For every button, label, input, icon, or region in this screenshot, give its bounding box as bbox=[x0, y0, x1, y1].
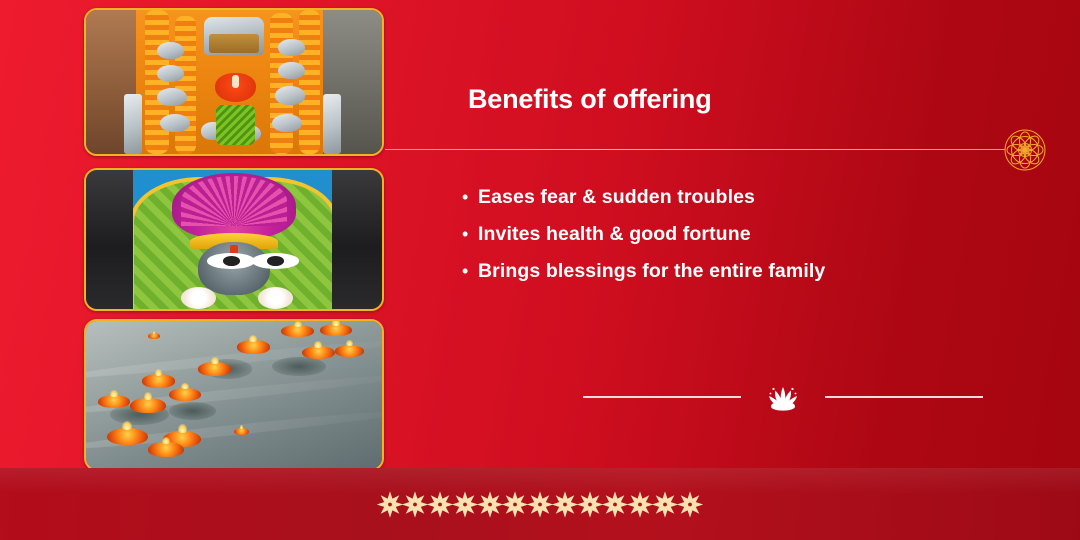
lotus-icon bbox=[761, 381, 805, 413]
slide-canvas: Benefits of offering bbox=[0, 0, 1080, 540]
bottom-decorative-band bbox=[0, 468, 1080, 540]
photo-card-deity-turban[interactable] bbox=[84, 168, 384, 311]
photo-deity-turban-image bbox=[86, 170, 382, 309]
benefits-list: • Eases fear & sudden troubles • Invites… bbox=[462, 186, 982, 297]
list-item: • Invites health & good fortune bbox=[462, 223, 982, 246]
list-item: • Eases fear & sudden troubles bbox=[462, 186, 982, 209]
photo-card-floating-diyas[interactable] bbox=[84, 319, 384, 471]
photo-floating-diyas-image bbox=[86, 321, 382, 469]
lotus-divider bbox=[583, 381, 983, 413]
photo-card-temple-deity[interactable] bbox=[84, 8, 384, 156]
bullet-marker-icon: • bbox=[462, 262, 478, 280]
bullet-marker-icon: • bbox=[462, 188, 478, 206]
mandala-icon bbox=[1003, 128, 1047, 172]
bullet-marker-icon: • bbox=[462, 225, 478, 243]
benefit-text-2: Invites health & good fortune bbox=[478, 223, 751, 246]
flower-motif-strip bbox=[378, 484, 703, 524]
flower-motif-icon bbox=[676, 490, 705, 519]
benefit-text-3: Brings blessings for the entire family bbox=[478, 260, 825, 283]
benefit-text-1: Eases fear & sudden troubles bbox=[478, 186, 755, 209]
photo-temple-deity-image bbox=[86, 10, 382, 154]
list-item: • Brings blessings for the entire family bbox=[462, 260, 982, 283]
photo-column bbox=[84, 8, 384, 471]
page-title: Benefits of offering bbox=[468, 84, 712, 115]
divider-line-right bbox=[825, 396, 983, 398]
title-divider-rule bbox=[385, 149, 1005, 150]
divider-line-left bbox=[583, 396, 741, 398]
